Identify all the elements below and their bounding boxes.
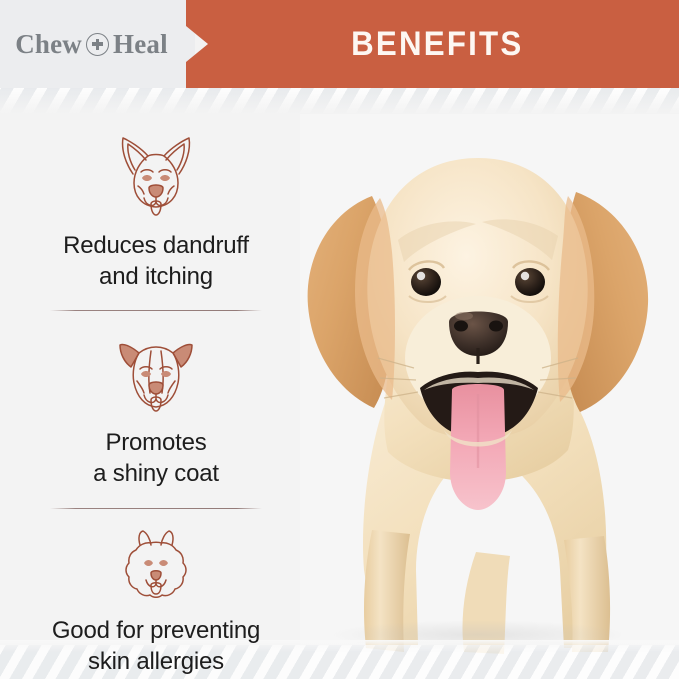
header: Chew Heal BENEFITS	[0, 0, 679, 88]
benefit-divider	[50, 508, 262, 509]
banner-title: BENEFITS	[351, 25, 523, 64]
benefit-label: Reduces dandruff and itching	[49, 231, 263, 292]
terrier-dog-face-icon	[110, 329, 202, 420]
puppy-photo	[268, 100, 679, 660]
corgi-dog-face-icon	[108, 128, 204, 223]
benefit-item: Good for preventing skin allergies	[0, 527, 312, 677]
benefit-label: Good for preventing skin allergies	[38, 616, 274, 677]
benefits-banner: BENEFITS	[186, 0, 679, 88]
brand-panel: Chew Heal	[0, 0, 195, 88]
brand-name-second: Heal	[113, 29, 168, 60]
benefit-item: Reduces dandruff and itching	[0, 128, 312, 292]
benefit-item: Promotes a shiny coat	[0, 329, 312, 489]
brand-name-first: Chew	[15, 29, 82, 60]
benefits-list: Reduces dandruff and itching	[0, 128, 312, 677]
benefit-label: Promotes a shiny coat	[79, 428, 233, 489]
brand-logo: Chew Heal	[15, 29, 168, 60]
pomeranian-dog-face-icon	[117, 527, 195, 608]
stripe-band-top-fade	[0, 88, 679, 114]
circled-plus-icon	[86, 33, 109, 56]
benefits-infographic: Chew Heal BENEFITS	[0, 0, 679, 679]
benefit-divider	[50, 310, 262, 311]
